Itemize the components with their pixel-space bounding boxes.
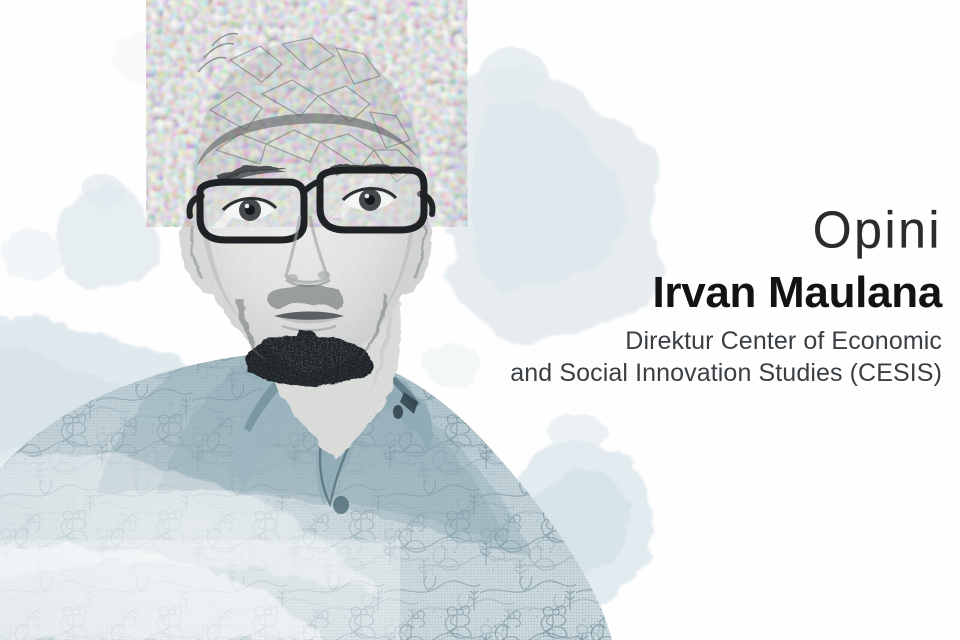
author-name: Irvan Maulana [422,270,942,317]
kicker-opini: Opini [422,204,942,256]
author-role-line-1: Direktur Center of Economic [422,325,942,357]
opinion-banner: Opini Irvan Maulana Direktur Center of E… [0,0,960,640]
caption-block: Opini Irvan Maulana Direktur Center of E… [422,206,942,389]
author-role-line-2: and Social Innovation Studies (CESIS) [422,357,942,389]
